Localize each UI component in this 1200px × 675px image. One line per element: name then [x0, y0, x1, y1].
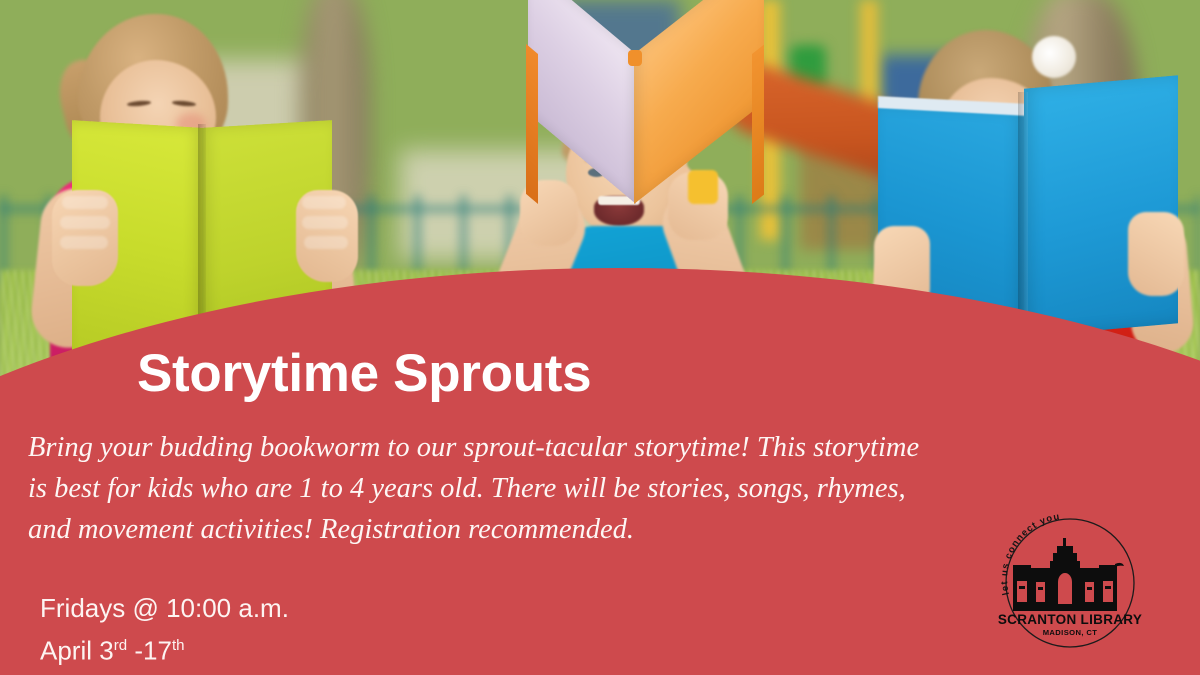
logo-name: SCRANTON LIBRARY — [998, 612, 1142, 627]
schedule-dates: April 3rd -17th — [40, 627, 289, 670]
page-title: Storytime Sprouts — [137, 347, 591, 400]
schedule-month: April — [40, 636, 92, 666]
schedule-end-day: 17 — [143, 636, 172, 666]
library-building-icon — [1013, 538, 1124, 611]
storytime-sprouts-flyer: Storytime Sprouts Bring your budding boo… — [0, 0, 1200, 675]
schedule-start-day: 3 — [99, 636, 113, 666]
description-text: Bring your budding bookworm to our sprou… — [28, 427, 933, 550]
schedule-start-ordinal: rd — [114, 637, 127, 654]
schedule-block: Fridays @ 10:00 a.m. April 3rd -17th — [40, 589, 289, 670]
schedule-time: Fridays @ 10:00 a.m. — [40, 589, 289, 627]
scranton-library-logo: let us connect you — [995, 508, 1145, 658]
schedule-end-ordinal: th — [172, 637, 185, 654]
logo-location: MADISON, CT — [1043, 628, 1098, 637]
schedule-separator: - — [134, 636, 143, 666]
